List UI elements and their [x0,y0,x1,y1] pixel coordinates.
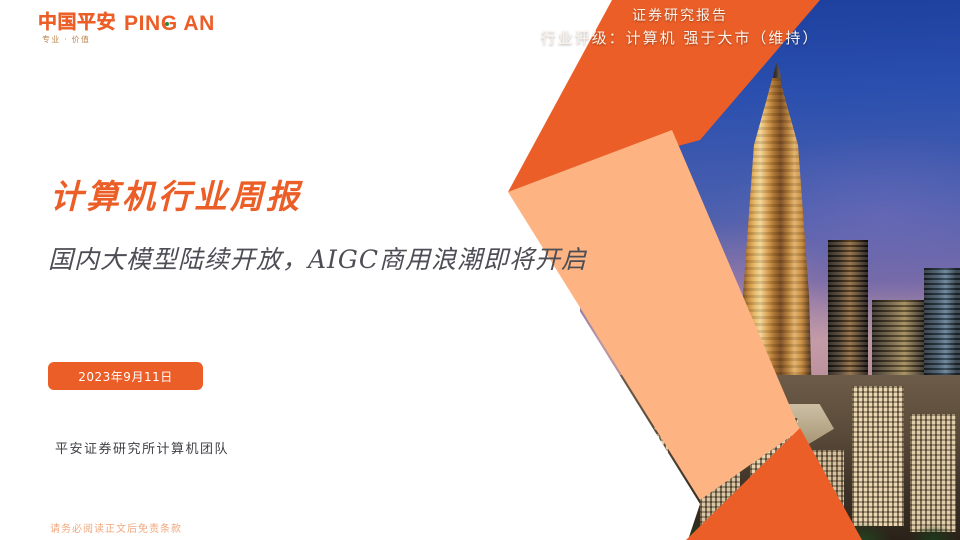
report-cover-slide: 中国平安 PING AN 专业 · 价值 证券研究报告 行业评级：计算机 强于大… [0,0,960,540]
publish-date-badge: 2023年9月11日 [48,362,203,390]
disclaimer-note: 请务必阅读正文后免责条款 [50,520,182,535]
report-type-label: 证券研究报告 [400,6,960,27]
logo-english-wordmark: PING AN [124,13,215,34]
page-subtitle: 国内大模型陆续开放，AIGC商用浪潮即将开启 [48,240,587,276]
logo-tagline: 专业 · 价值 [42,34,90,45]
industry-rating-label: 行业评级：计算机 强于大市（维持） [400,27,960,50]
logo-green-dot-icon [165,22,169,26]
report-header: 证券研究报告 行业评级：计算机 强于大市（维持） [400,6,960,50]
ping-an-logo: 中国平安 PING AN [38,13,215,34]
logo-chinese-wordmark: 中国平安 [38,13,116,32]
page-title: 计算机行业周报 [50,170,302,218]
logo-english-text: PING AN [124,12,215,35]
research-team-label: 平安证券研究所计算机团队 [55,438,229,457]
